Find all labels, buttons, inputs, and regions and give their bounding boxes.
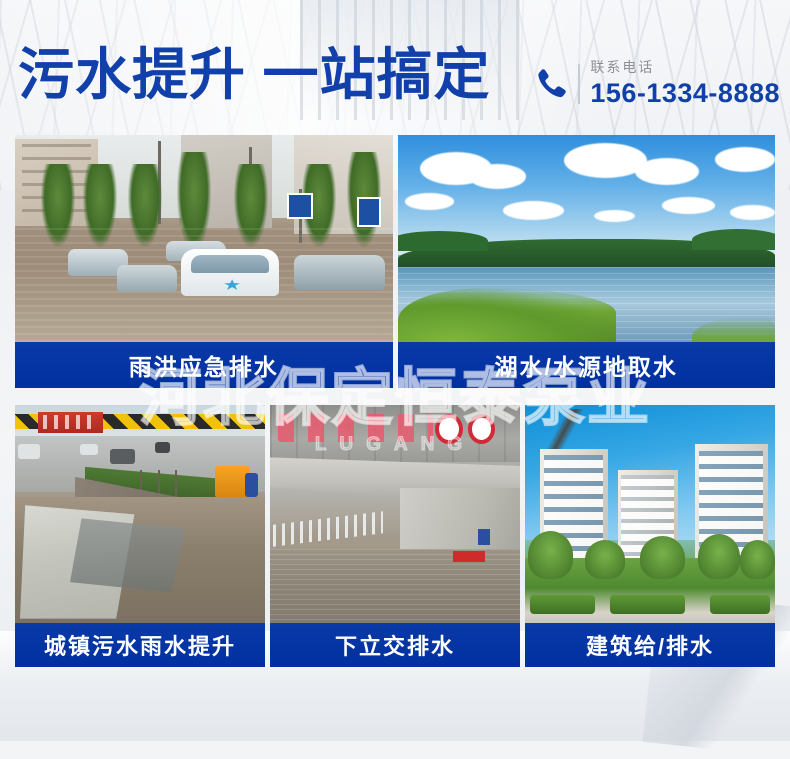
contact-divider <box>578 64 580 104</box>
contact-phone-number[interactable]: 156-1334-8888 <box>590 80 780 107</box>
contact-block[interactable]: 联系电话 156-1334-8888 <box>532 60 780 107</box>
photo-urban-street-stormwater-drainage <box>15 405 265 623</box>
card-flood-emergency-drainage[interactable]: 雨洪应急排水 <box>15 135 393 388</box>
card-municipal-sewage-stormwater-lift[interactable]: 城镇污水雨水提升 <box>15 405 265 667</box>
card-grid-top-row: 雨洪应急排水 湖水/水源地取水 <box>15 135 775 388</box>
card-caption: 湖水/水源地取水 <box>398 342 776 388</box>
card-caption: 建筑给/排水 <box>525 623 775 667</box>
photo-flooded-street-with-submerged-cars <box>15 135 393 342</box>
contact-label: 联系电话 <box>590 60 780 74</box>
card-caption: 城镇污水雨水提升 <box>15 623 265 667</box>
contact-text: 联系电话 156-1334-8888 <box>590 60 780 107</box>
card-caption: 雨洪应急排水 <box>15 342 393 388</box>
phone-icon <box>532 66 568 102</box>
photo-flooded-underpass <box>270 405 520 623</box>
photo-lake-with-blue-sky-and-grass <box>398 135 776 342</box>
card-caption: 下立交排水 <box>270 623 520 667</box>
card-grid-bottom-row: 城镇污水雨水提升 下立交排水 建筑给/排水 <box>15 405 775 667</box>
card-underpass-drainage[interactable]: 下立交排水 <box>270 405 520 667</box>
card-lake-water-source-intake[interactable]: 湖水/水源地取水 <box>398 135 776 388</box>
page-header: 污水提升 一站搞定 联系电话 156-1334-8888 <box>0 0 790 130</box>
page-title: 污水提升 一站搞定 <box>18 47 491 103</box>
photo-residential-high-rise-buildings <box>525 405 775 623</box>
card-building-water-supply-drainage[interactable]: 建筑给/排水 <box>525 405 775 667</box>
